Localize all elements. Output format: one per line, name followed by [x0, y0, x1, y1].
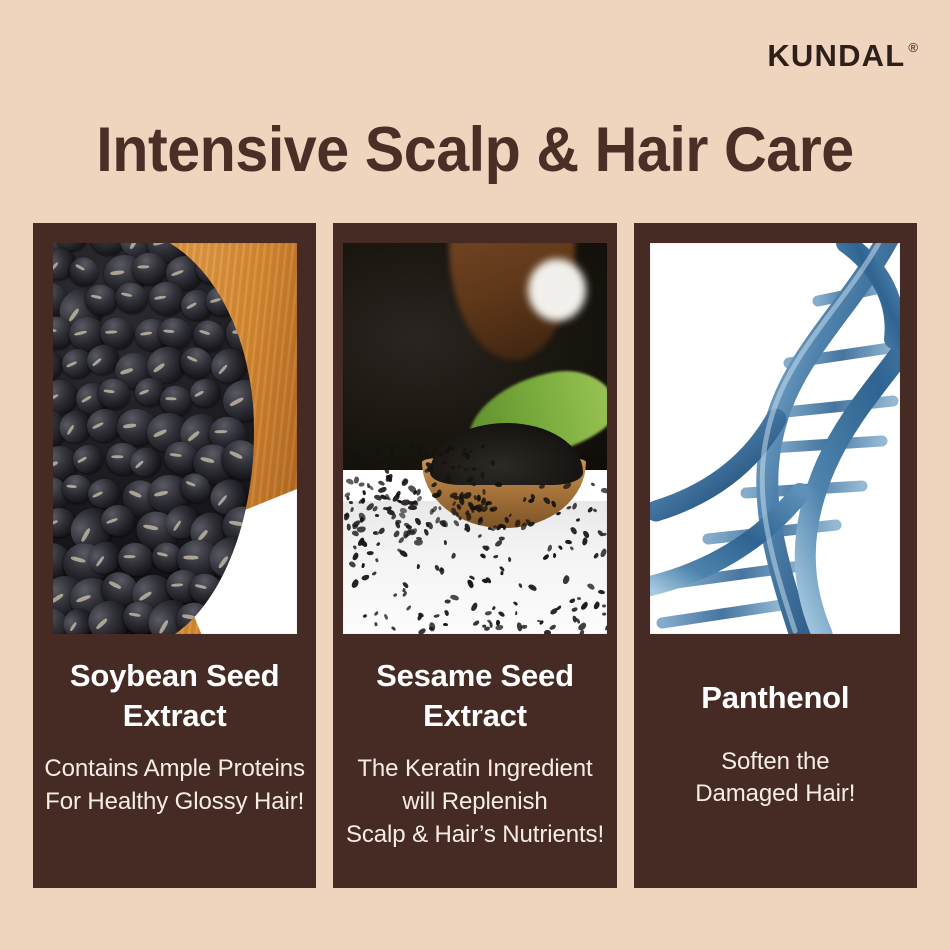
soybean-caption: Soybean Seed Extract Contains Ample Prot… [33, 634, 316, 888]
soybean-photo [53, 243, 297, 634]
panthenol-photo [650, 243, 900, 634]
panthenol-caption: Panthenol Soften the Damaged Hair! [634, 634, 917, 888]
card-description: Soften the Damaged Hair! [695, 746, 855, 811]
ingredient-card-row: Soybean Seed Extract Contains Ample Prot… [33, 223, 917, 888]
photo-inner-border [650, 243, 900, 634]
ingredient-card-sesame: Sesame Seed Extract The Keratin Ingredie… [333, 223, 616, 888]
photo-inner-border [53, 243, 297, 634]
photo-inner-border [343, 243, 607, 634]
card-title: Sesame Seed Extract [376, 656, 574, 735]
card-description: Contains Ample Proteins For Healthy Glos… [44, 753, 305, 818]
card-title: Panthenol [701, 678, 849, 718]
sesame-caption: Sesame Seed Extract The Keratin Ingredie… [333, 634, 616, 888]
ingredient-card-panthenol: Panthenol Soften the Damaged Hair! [634, 223, 917, 888]
page-title: Intensive Scalp & Hair Care [29, 114, 922, 186]
sesame-photo [343, 243, 607, 634]
ingredient-card-soybean: Soybean Seed Extract Contains Ample Prot… [33, 223, 316, 888]
card-title: Soybean Seed Extract [70, 656, 280, 735]
brand-logo: KUNDAL ® [767, 40, 918, 71]
card-description: The Keratin Ingredient will Replenish Sc… [346, 753, 604, 851]
registered-trademark-icon: ® [908, 41, 918, 54]
brand-name: KUNDAL [767, 40, 905, 71]
